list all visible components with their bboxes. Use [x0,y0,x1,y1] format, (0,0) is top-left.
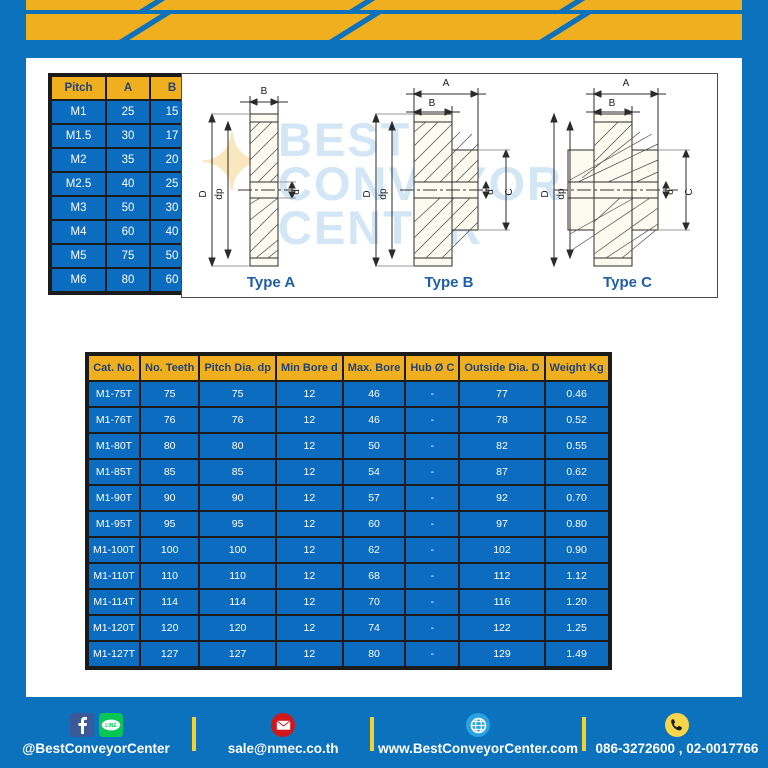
spec-cell: 127 [200,642,275,666]
spec-cell: 1.12 [546,564,608,588]
spec-cell: M1-114T [89,590,139,614]
table-row: M1-76T76761246-780.52 [89,408,608,432]
spec-cell: 12 [277,460,342,484]
spec-cell: 122 [460,616,543,640]
pitch-cell: 35 [107,149,149,171]
spec-cell: M1-76T [89,408,139,432]
spec-cell: 12 [277,642,342,666]
spec-cell: 1.49 [546,642,608,666]
svg-text:d: d [665,189,676,195]
spec-cell: 46 [344,408,405,432]
spec-cell: M1-120T [89,616,139,640]
table-row: M1-127T1271271280-1291.49 [89,642,608,666]
spec-cell: M1-75T [89,382,139,406]
pitch-table-row: M23520 [52,149,193,171]
spec-cell: 100 [200,538,275,562]
svg-text:D: D [198,190,209,197]
spec-cell: 75 [200,382,275,406]
spec-cell: 114 [141,590,198,614]
spec-cell: 74 [344,616,405,640]
pitch-cell: M1.5 [52,125,105,147]
pitch-cell: M2 [52,149,105,171]
figure-caption-a: Type A [182,274,360,291]
spec-cell: 102 [460,538,543,562]
pitch-cell: M5 [52,245,105,267]
spec-cell: 70 [344,590,405,614]
spec-cell: - [406,590,458,614]
spec-cell: 12 [277,564,342,588]
spec-cell: 95 [141,512,198,536]
phone-icon[interactable] [665,713,689,737]
pitch-cell: 40 [107,173,149,195]
spec-cell: 60 [344,512,405,536]
spec-cell: 12 [277,486,342,510]
email-icon[interactable] [271,713,295,737]
spec-cell: 85 [200,460,275,484]
table-row: M1-120T1201201274-1221.25 [89,616,608,640]
pitch-cell: M6 [52,269,105,291]
spec-cell: 12 [277,408,342,432]
spec-cell: 76 [141,408,198,432]
facebook-icon[interactable] [70,713,94,737]
corner-left-fill [0,0,26,140]
footer-item-phone[interactable]: 086-3272600 , 02-0017766 [586,712,768,756]
spec-cell: - [406,460,458,484]
spec-cell: 68 [344,564,405,588]
table-row: M1-80T80801250-820.55 [89,434,608,458]
spec-cell: 78 [460,408,543,432]
corner-right-fill [742,0,768,140]
spec-cell: M1-127T [89,642,139,666]
svg-text:dp: dp [556,188,567,200]
svg-text:D: D [362,190,373,197]
spec-cell: 82 [460,434,543,458]
spec-cell: 114 [200,590,275,614]
footer-website-icons [466,712,490,738]
spec-cell: 12 [277,434,342,458]
spec-cell: 1.25 [546,616,608,640]
pitch-table-row: M57550 [52,245,193,267]
footer-item-website[interactable]: www.BestConveyorCenter.com [374,712,582,756]
spec-column-header: Min Bore d [277,356,342,380]
pitch-table-row: M68060 [52,269,193,291]
svg-text:B: B [429,98,436,109]
pitch-table-header-row: Pitch A B [52,77,193,99]
table-row: M1-110T1101101268-1121.12 [89,564,608,588]
spec-table: Cat. No.No. TeethPitch Dia. dpMin Bore d… [85,352,612,670]
svg-text:A: A [443,78,450,89]
spec-column-header: Max. Bore [344,356,405,380]
spec-cell: 85 [141,460,198,484]
spec-cell: 80 [141,434,198,458]
spec-table-body: M1-75T75751246-770.46M1-76T76761246-780.… [89,382,608,666]
spec-cell: - [406,512,458,536]
spec-cell: 62 [344,538,405,562]
spec-cell: - [406,408,458,432]
spec-cell: 76 [200,408,275,432]
spec-column-header: Cat. No. [89,356,139,380]
spec-cell: 90 [141,486,198,510]
spec-cell: 50 [344,434,405,458]
spec-cell: 1.20 [546,590,608,614]
pitch-table-row: M35030 [52,197,193,219]
pitch-cell: M1 [52,101,105,123]
spec-column-header: Outside Dia. D [460,356,543,380]
pitch-cell: 60 [107,221,149,243]
spec-cell: - [406,642,458,666]
spec-cell: 100 [141,538,198,562]
spec-cell: 0.55 [546,434,608,458]
content-panel: เฟืองขบ-ตรง (Spur Gears Module : M1) Pit… [26,58,742,697]
spec-cell: 0.52 [546,408,608,432]
figure-type-a: D dp B d Type A [182,74,360,297]
chevron-decoration [0,0,768,58]
line-icon[interactable]: LINE [99,713,123,737]
pitch-cell: M2.5 [52,173,105,195]
spec-cell: M1-100T [89,538,139,562]
spec-cell: M1-95T [89,512,139,536]
figure-caption-b: Type B [360,274,538,291]
spec-cell: - [406,538,458,562]
spec-cell: - [406,434,458,458]
spec-cell: 57 [344,486,405,510]
page-root: เฟืองขบ-ตรง (Spur Gears Module : M1) Pit… [0,0,768,768]
spec-cell: 0.80 [546,512,608,536]
spec-cell: 75 [141,382,198,406]
table-row: M1-90T90901257-920.70 [89,486,608,510]
pitch-cell: 80 [107,269,149,291]
spec-cell: 12 [277,590,342,614]
spec-cell: 120 [141,616,198,640]
spec-cell: 110 [200,564,275,588]
figure-type-c: D dp A B d C Type C [538,74,717,297]
spec-cell: 112 [460,564,543,588]
spec-cell: 92 [460,486,543,510]
spec-cell: 120 [200,616,275,640]
spec-cell: 46 [344,382,405,406]
footer-website-label: www.BestConveyorCenter.com [378,741,578,756]
footer-item-email[interactable]: sale@nmec.co.th [196,712,370,756]
svg-text:B: B [609,98,616,109]
pitch-table-row: M12515 [52,101,193,123]
spec-cell: 90 [200,486,275,510]
pitch-table: Pitch A B M12515M1.53017M23520M2.54025M3… [48,73,197,295]
spec-cell: 80 [344,642,405,666]
spec-cell: 12 [277,538,342,562]
footer-email-label: sale@nmec.co.th [228,741,339,756]
spec-cell: 127 [141,642,198,666]
svg-text:dp: dp [214,188,225,200]
pitch-cell: 75 [107,245,149,267]
pitch-table-row: M2.54025 [52,173,193,195]
spec-cell: 12 [277,382,342,406]
spec-cell: M1-80T [89,434,139,458]
pitch-cell: M3 [52,197,105,219]
svg-text:C: C [684,188,695,195]
spec-cell: 116 [460,590,543,614]
pitch-cell: 50 [107,197,149,219]
spec-cell: 0.46 [546,382,608,406]
pitch-cell: 25 [107,101,149,123]
pitch-table-body: M12515M1.53017M23520M2.54025M35030M46040… [52,101,193,291]
spec-cell: 0.90 [546,538,608,562]
spec-cell: - [406,616,458,640]
diagram-panel: BEST CONVEYOR CENTER ✦ [181,73,718,298]
pitch-table-row: M1.53017 [52,125,193,147]
svg-text:C: C [504,188,515,195]
svg-text:A: A [623,78,630,89]
footer-item-social[interactable]: LINE @BestConveyorCenter [0,712,192,756]
spec-cell: 129 [460,642,543,666]
spec-cell: 97 [460,512,543,536]
table-row: M1-100T1001001262-1020.90 [89,538,608,562]
spec-cell: 0.62 [546,460,608,484]
figure-caption-c: Type C [538,274,717,291]
spec-table-header-row: Cat. No.No. TeethPitch Dia. dpMin Bore d… [89,356,608,380]
spec-column-header: Pitch Dia. dp [200,356,275,380]
footer-email-icons [271,712,295,738]
spec-cell: M1-110T [89,564,139,588]
spec-cell: - [406,564,458,588]
spec-cell: 87 [460,460,543,484]
pitch-table-row: M46040 [52,221,193,243]
table-row: M1-85T85851254-870.62 [89,460,608,484]
svg-text:dp: dp [378,188,389,200]
footer-social-label: @BestConveyorCenter [22,741,169,756]
footer-social-icons: LINE [70,712,123,738]
pitch-header-a: A [107,77,149,99]
table-row: M1-75T75751246-770.46 [89,382,608,406]
spec-column-header: Hub Ø C [406,356,458,380]
table-row: M1-114T1141141270-1161.20 [89,590,608,614]
figure-type-b: D dp A B d C Type B [360,74,538,297]
pitch-cell: M4 [52,221,105,243]
spec-column-header: No. Teeth [141,356,198,380]
svg-text:LINE: LINE [105,723,117,729]
spec-cell: M1-85T [89,460,139,484]
pitch-cell: 30 [107,125,149,147]
spec-cell: - [406,486,458,510]
spec-cell: 95 [200,512,275,536]
spec-cell: 110 [141,564,198,588]
svg-text:d: d [485,189,496,195]
spec-cell: 12 [277,616,342,640]
svg-text:D: D [540,190,551,197]
spec-column-header: Weight Kg [546,356,608,380]
table-row: M1-95T95951260-970.80 [89,512,608,536]
footer-contact-bar: LINE @BestConveyorCenter sale@nmec.co.th… [0,700,768,768]
spec-cell: M1-90T [89,486,139,510]
spec-cell: 54 [344,460,405,484]
spec-cell: 12 [277,512,342,536]
spec-cell: 0.70 [546,486,608,510]
pitch-header-pitch: Pitch [52,77,105,99]
spec-cell: - [406,382,458,406]
spec-cell: 77 [460,382,543,406]
spec-cell: 80 [200,434,275,458]
svg-text:B: B [261,86,268,97]
footer-phone-icons [665,712,689,738]
svg-text:d: d [291,189,302,195]
footer-phone-label: 086-3272600 , 02-0017766 [595,741,758,756]
globe-icon[interactable] [466,713,490,737]
